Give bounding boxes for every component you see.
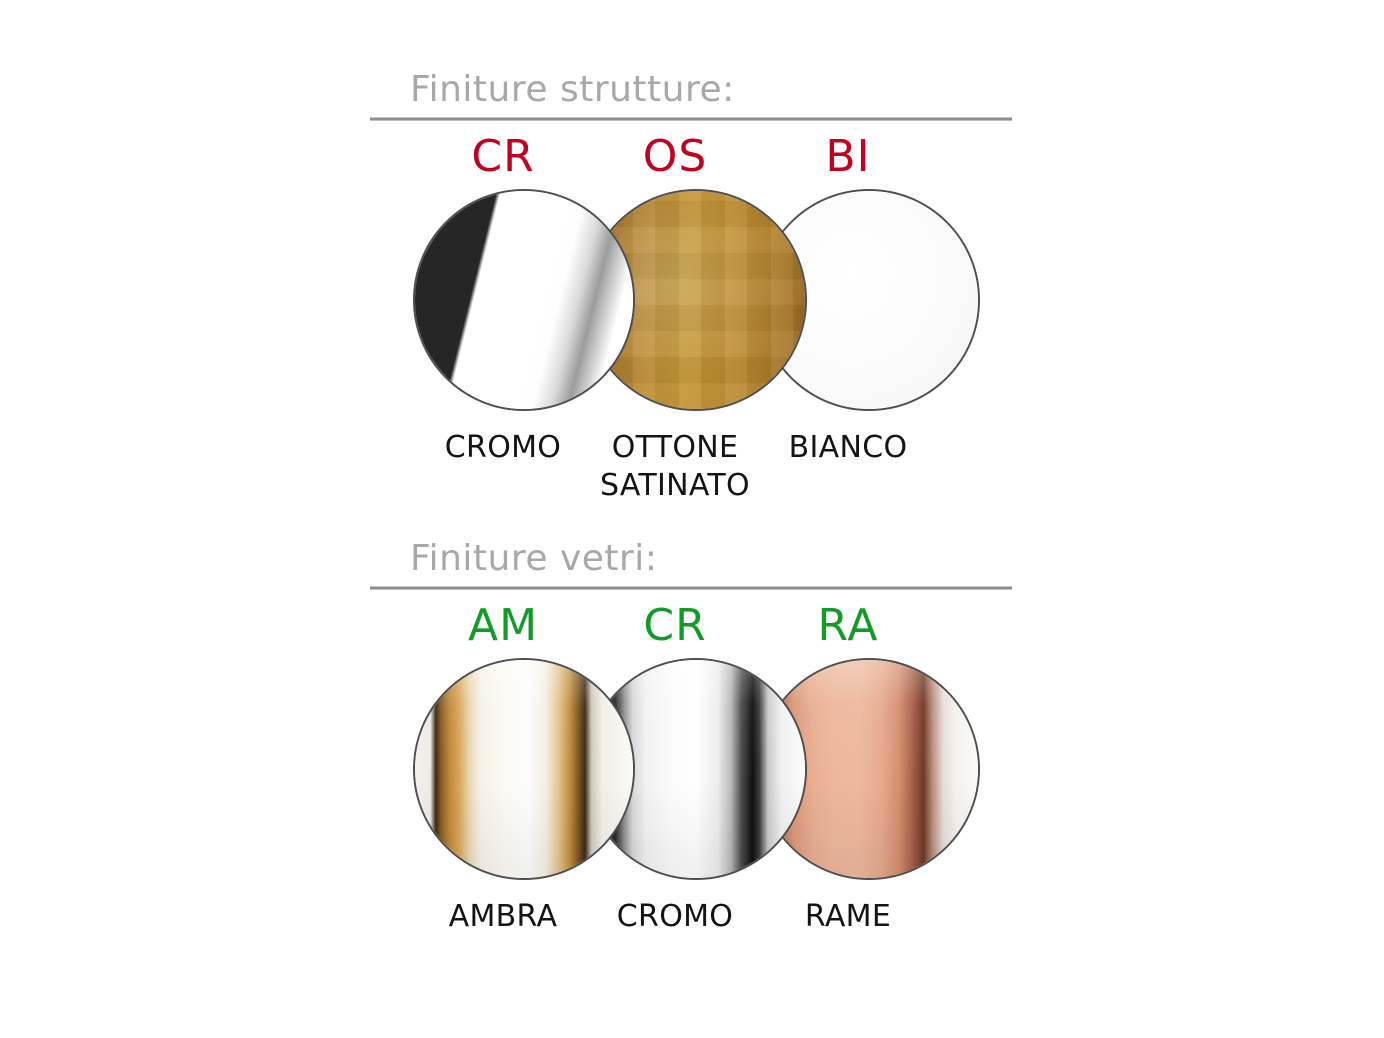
finish-code-os-structure[interactable]: OS xyxy=(585,129,765,185)
swatch-row-structures xyxy=(370,189,1012,415)
section-finiture-vetri: Finiture vetri: AM CR RA AMBRA CROMO xyxy=(370,541,1012,978)
finish-code-cr-glass[interactable]: CR xyxy=(585,598,765,654)
finish-code-cr-structure[interactable]: CR xyxy=(413,129,593,185)
finish-label-ottone-satinato-line2: SATINATO xyxy=(585,467,765,505)
finish-label-cromo-structure: CROMO xyxy=(413,429,593,467)
section-divider-glass xyxy=(370,586,1012,590)
code-row-structures: CR OS BI xyxy=(370,129,1012,185)
amber-glass-swatch-fill xyxy=(415,660,633,878)
finish-label-cromo-glass: CROMO xyxy=(585,898,765,936)
finish-label-ottone-satinato-line1: OTTONE xyxy=(612,430,739,465)
finish-label-ambra-line1: AMBRA xyxy=(449,899,558,934)
caption-row-glass: AMBRA CROMO RAME xyxy=(370,898,1012,978)
finish-label-bianco-line1: BIANCO xyxy=(789,430,908,465)
finishes-legend-sheet: Finiture strutture: CR OS BI CROMO OTTON… xyxy=(0,0,1384,1038)
section-finiture-strutture: Finiture strutture: CR OS BI CROMO OTTON… xyxy=(370,72,1012,509)
finish-label-cromo-structure-line1: CROMO xyxy=(445,430,561,465)
finish-label-rame-line1: RAME xyxy=(805,899,891,934)
finish-code-ra-glass[interactable]: RA xyxy=(758,598,938,654)
section-title-structures: Finiture strutture: xyxy=(370,72,1012,108)
caption-row-structures: CROMO OTTONE SATINATO BIANCO xyxy=(370,429,1012,509)
finish-label-bianco: BIANCO xyxy=(758,429,938,467)
swatch-row-glass xyxy=(370,658,1012,884)
finish-label-cromo-glass-line1: CROMO xyxy=(617,899,733,934)
chrome-swatch-fill xyxy=(415,191,633,409)
finish-code-bi-structure[interactable]: BI xyxy=(758,129,938,185)
code-row-glass: AM CR RA xyxy=(370,598,1012,654)
finish-code-am-glass[interactable]: AM xyxy=(413,598,593,654)
section-title-glass: Finiture vetri: xyxy=(370,541,1012,577)
finish-label-rame: RAME xyxy=(758,898,938,936)
section-divider-structures xyxy=(370,117,1012,121)
chrome-swatch[interactable] xyxy=(413,189,635,411)
amber-glass-swatch[interactable] xyxy=(413,658,635,880)
finish-label-ottone-satinato: OTTONE SATINATO xyxy=(585,429,765,505)
finish-label-ambra: AMBRA xyxy=(413,898,593,936)
